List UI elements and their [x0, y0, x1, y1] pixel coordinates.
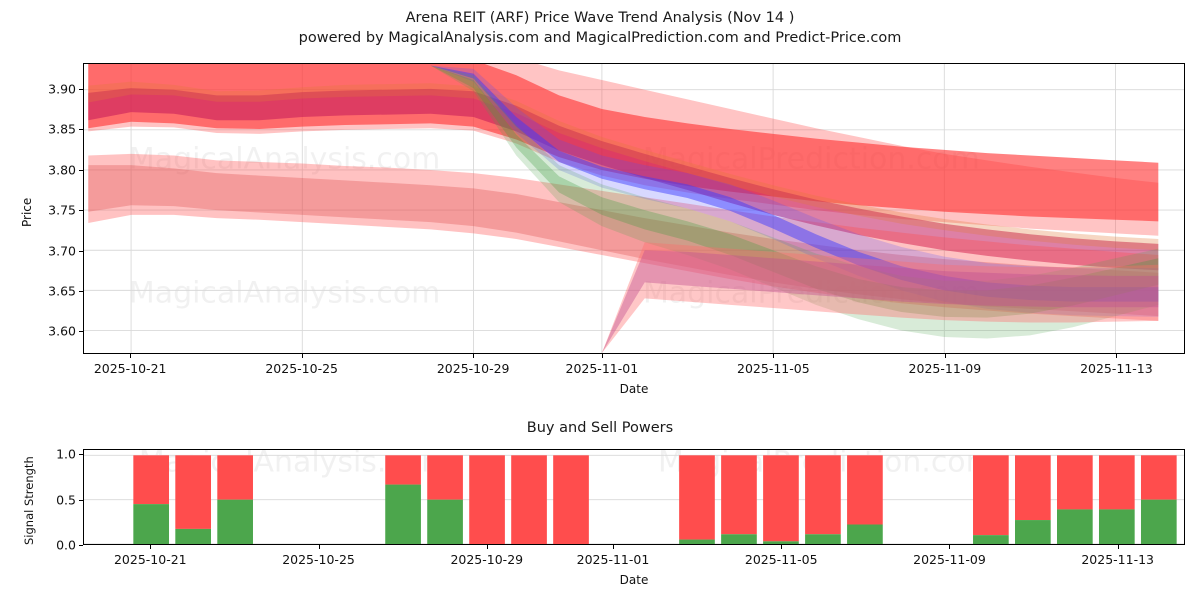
- sell-power-bar: [1015, 455, 1051, 520]
- sell-power-bar: [1057, 455, 1093, 509]
- price-xtick-label: 2025-10-29: [437, 361, 510, 376]
- signal-xtick-label: 2025-10-25: [282, 552, 355, 567]
- buy-power-bar: [133, 504, 169, 544]
- signal-chart-title: Buy and Sell Powers: [0, 420, 1200, 436]
- price-xtick-label: 2025-11-05: [737, 361, 810, 376]
- signal-chart-svg: MagicalAnalysis.comMagicalPrediction.com: [84, 450, 1184, 544]
- signal-y-axis-label: Signal Strength: [22, 456, 36, 545]
- sell-power-bar: [469, 455, 505, 544]
- buy-power-bar: [763, 541, 799, 544]
- price-ytick-label: 3.60: [28, 324, 76, 339]
- buy-power-bar: [1099, 509, 1135, 544]
- signal-xtick-label: 2025-10-29: [450, 552, 523, 567]
- sell-power-bar: [217, 455, 253, 499]
- sell-power-bar: [385, 455, 421, 484]
- price-ytick-label: 3.90: [28, 81, 76, 96]
- price-ytick-label: 3.75: [28, 203, 76, 218]
- signal-ytick-mark: [79, 500, 83, 501]
- sell-power-bar: [1141, 455, 1177, 499]
- price-xtick-mark: [945, 354, 946, 358]
- sell-power-bar: [511, 455, 547, 544]
- price-ytick-mark: [79, 170, 83, 171]
- signal-xtick-mark: [1118, 545, 1119, 549]
- sell-power-bar: [973, 455, 1009, 535]
- signal-xtick-mark: [487, 545, 488, 549]
- signal-xtick-label: 2025-10-21: [114, 552, 187, 567]
- signal-xtick-mark: [781, 545, 782, 549]
- signal-ytick-label: 0.0: [34, 538, 76, 553]
- signal-xtick-label: 2025-11-05: [745, 552, 818, 567]
- signal-xtick-label: 2025-11-09: [913, 552, 986, 567]
- price-chart-plot-area: MagicalAnalysis.comMagicalPrediction.com…: [83, 63, 1185, 354]
- buy-power-bar: [847, 524, 883, 544]
- buy-power-bar: [175, 529, 211, 544]
- price-chart-svg: MagicalAnalysis.comMagicalPrediction.com…: [84, 64, 1184, 353]
- price-xtick-label: 2025-10-25: [265, 361, 338, 376]
- page-title: Arena REIT (ARF) Price Wave Trend Analys…: [0, 8, 1200, 48]
- signal-ytick-mark: [79, 545, 83, 546]
- price-xtick-label: 2025-11-01: [566, 361, 639, 376]
- buy-power-bar: [385, 485, 421, 544]
- price-ytick-mark: [79, 251, 83, 252]
- sell-power-bar: [679, 455, 715, 539]
- buy-power-bar: [973, 535, 1009, 544]
- signal-x-axis-label: Date: [620, 573, 649, 587]
- price-xtick-mark: [302, 354, 303, 358]
- title-subtitle: powered by MagicalAnalysis.com and Magic…: [0, 28, 1200, 48]
- sell-power-bar: [1099, 455, 1135, 509]
- price-ytick-mark: [79, 129, 83, 130]
- signal-ytick-label: 1.0: [34, 447, 76, 462]
- price-ytick-mark: [79, 291, 83, 292]
- price-xtick-label: 2025-11-13: [1080, 361, 1153, 376]
- price-xtick-mark: [773, 354, 774, 358]
- watermark-text: MagicalAnalysis.com: [129, 275, 440, 310]
- chart-page: Arena REIT (ARF) Price Wave Trend Analys…: [0, 0, 1200, 600]
- price-ytick-mark: [79, 89, 83, 90]
- title-primary: Arena REIT (ARF) Price Wave Trend Analys…: [0, 8, 1200, 28]
- sell-power-bar: [721, 455, 757, 534]
- price-ytick-mark: [79, 210, 83, 211]
- sell-power-bar: [553, 455, 589, 544]
- buy-power-bar: [427, 500, 463, 544]
- signal-xtick-mark: [150, 545, 151, 549]
- signal-ytick-label: 0.5: [34, 492, 76, 507]
- price-xtick-label: 2025-10-21: [94, 361, 167, 376]
- sell-power-bar: [175, 455, 211, 529]
- signal-chart-plot-area: MagicalAnalysis.comMagicalPrediction.com: [83, 449, 1185, 545]
- signal-xtick-mark: [949, 545, 950, 549]
- price-x-axis-label: Date: [620, 382, 649, 396]
- signal-xtick-mark: [319, 545, 320, 549]
- price-xtick-mark: [130, 354, 131, 358]
- buy-power-bar: [1057, 509, 1093, 544]
- price-xtick-label: 2025-11-09: [909, 361, 982, 376]
- price-ytick-label: 3.85: [28, 122, 76, 137]
- sell-power-bar: [763, 455, 799, 541]
- sell-power-bar: [847, 455, 883, 524]
- price-xtick-mark: [473, 354, 474, 358]
- price-y-axis-label: Price: [20, 197, 34, 226]
- sell-power-bar: [133, 455, 169, 504]
- signal-xtick-label: 2025-11-01: [577, 552, 650, 567]
- signal-xtick-label: 2025-11-13: [1081, 552, 1154, 567]
- buy-power-bar: [1015, 520, 1051, 544]
- price-xtick-mark: [602, 354, 603, 358]
- sell-power-bar: [805, 455, 841, 534]
- buy-power-bar: [721, 534, 757, 544]
- buy-power-bar: [805, 534, 841, 544]
- price-ytick-label: 3.65: [28, 283, 76, 298]
- price-ytick-label: 3.70: [28, 243, 76, 258]
- buy-power-bar: [217, 500, 253, 544]
- signal-ytick-mark: [79, 454, 83, 455]
- price-ytick-mark: [79, 331, 83, 332]
- buy-power-bar: [679, 540, 715, 544]
- price-ytick-label: 3.80: [28, 162, 76, 177]
- buy-power-bar: [1141, 500, 1177, 544]
- sell-power-bar: [427, 455, 463, 499]
- signal-xtick-mark: [613, 545, 614, 549]
- price-xtick-mark: [1116, 354, 1117, 358]
